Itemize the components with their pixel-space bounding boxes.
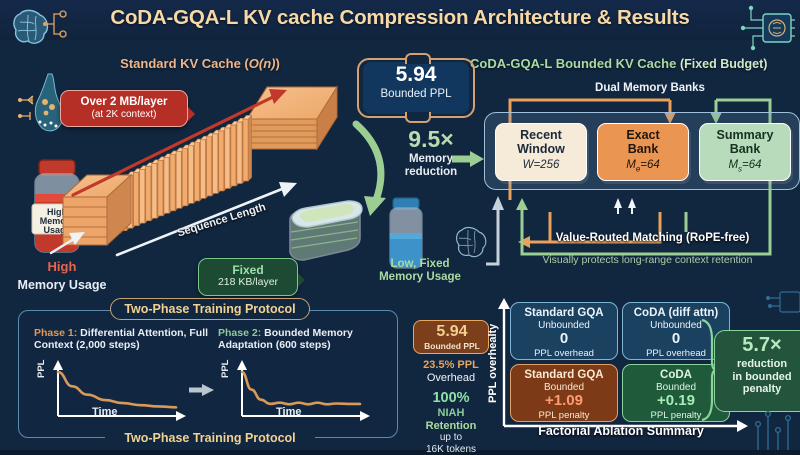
cartouche-label: Bounded PPL: [357, 88, 475, 100]
bounded-ppl-cartouche: 5.94 Bounded PPL: [357, 58, 475, 118]
penalty-reduction-text: reduction in bounded penalty: [715, 358, 800, 396]
bounded-ppl-badge: 5.94 Bounded PPL: [413, 320, 489, 354]
memory-usage-words: Memory Usage: [18, 278, 107, 292]
bank-summary-line2: Bank: [730, 142, 761, 156]
standard-cache-title: Standard KV Cache (O(n)): [60, 56, 340, 71]
ppl-overhead-label: Overhead: [427, 372, 475, 384]
phase2-ylabel: PPL: [220, 360, 231, 378]
fixed-line2: 218 KB/layer: [207, 277, 289, 289]
phase2-heading: Phase 2: Bounded Memory Adaptation (600 …: [218, 327, 393, 352]
quadrant-standard-gqa-unbounded[interactable]: Standard GQA Unbounded 0 PPL overhead: [510, 302, 618, 360]
brain-outline-icon: [452, 222, 492, 262]
bank-recent-line1: Recent: [520, 128, 562, 142]
long-range-retention-note: Visually protects long-range context ret…: [495, 254, 800, 266]
phase1-tag: Phase 1:: [34, 327, 77, 339]
bank-exact-line2: Bank: [628, 142, 659, 156]
results-stats-column: 5.94 Bounded PPL 23.5% PPL Overhead 100%…: [412, 320, 490, 455]
standard-cache-title-text: Standard KV Cache (: [120, 56, 249, 71]
dual-memory-banks-label: Dual Memory Banks: [540, 82, 760, 94]
high-memory-caption: High Memory Usage: [10, 258, 114, 294]
bounded-cache-subtitle: (Fixed Budget): [680, 57, 768, 71]
phase2-ppl-chart: PPL Time: [220, 360, 370, 422]
circuit-decoration-icon: [752, 398, 800, 450]
bank-recent-param: W=256: [496, 159, 586, 171]
circuit-decoration-right-icon: [768, 282, 800, 322]
phase1-xlabel: Time: [92, 406, 117, 418]
value-routed-matching-label: Value-Routed Matching (RoPE-free): [505, 232, 800, 244]
bounded-ppl-caption: Bounded PPL: [414, 341, 490, 351]
training-protocol-caption: Two-Phase Training Protocol: [105, 428, 315, 448]
cartouche-value: 5.94: [357, 63, 475, 87]
over-2mb-callout: Over 2 MB/layer (at 2K context): [60, 90, 188, 127]
infographic-canvas: CoDA-GQA-L KV cache Compression Architec…: [0, 0, 800, 450]
phase2-tag: Phase 2:: [218, 327, 261, 339]
q-tl-value: 0: [511, 331, 617, 348]
bank-summary-param: Ms=64: [700, 159, 790, 173]
q-tl-title: Standard GQA: [511, 307, 617, 320]
q-tl-unit: PPL overhead: [511, 348, 617, 359]
bank-recent-window[interactable]: Recent Window W=256: [495, 123, 587, 181]
niah-tokens: 16K tokens: [412, 444, 490, 455]
ppl-overhead-value: 23.5% PPL: [423, 359, 479, 371]
q-bl-value: +1.09: [511, 393, 617, 410]
bounded-cache-title: CoDA-GQA-L Bounded KV Cache (Fixed Budge…: [470, 56, 800, 71]
training-protocol-title-chip: Two-Phase Training Protocol: [110, 298, 310, 320]
phase1-heading: Phase 1: Differential Attention, Full Co…: [34, 327, 214, 352]
quadrant-standard-gqa-bounded[interactable]: Standard GQA Bounded +1.09 PPL penalty: [510, 364, 618, 422]
phase1-ylabel: PPL: [36, 360, 47, 378]
bank-summary[interactable]: Summary Bank Ms=64: [699, 123, 791, 181]
q-bl-title: Standard GQA: [511, 369, 617, 382]
niah-retention-word: Retention: [412, 420, 490, 433]
niah-name: NIAH: [412, 407, 490, 420]
phase2-xlabel: Time: [276, 406, 301, 418]
ppl-overhead-stat: 23.5% PPL Overhead: [412, 359, 490, 384]
memory-banks-panel: Recent Window W=256 Exact Bank Me=64 Sum…: [484, 112, 800, 190]
phase1-ppl-chart: PPL Time: [36, 360, 186, 422]
q-bl-unit: PPL penalty: [511, 410, 617, 421]
standard-cache-title-end: ): [275, 56, 279, 71]
niah-retention-stat: 100% NIAH Retention up to 16K tokens: [412, 390, 490, 455]
fixed-line1: Fixed: [207, 264, 289, 277]
bank-exact[interactable]: Exact Bank Me=64: [597, 123, 689, 181]
niah-percent: 100%: [412, 390, 490, 407]
phase-transition-arrow-icon: [188, 382, 216, 398]
bank-summary-line1: Summary: [717, 128, 774, 142]
bounded-ppl-value: 5.94: [414, 323, 490, 341]
over-2mb-line2: (at 2K context): [69, 109, 179, 120]
over-2mb-line1: Over 2 MB/layer: [69, 96, 179, 109]
bounded-cache-title-text: CoDA-GQA-L Bounded KV Cache: [470, 56, 676, 71]
bank-exact-line1: Exact: [626, 128, 659, 142]
niah-upto: up to: [412, 432, 490, 444]
penalty-reduction-value: 5.7×: [715, 335, 800, 355]
ablation-caption: Factorial Ablation Summary: [496, 424, 746, 438]
bank-exact-param: Me=64: [598, 159, 688, 173]
bank-recent-line2: Window: [517, 142, 565, 156]
arrow-right-green-icon: [450, 148, 486, 170]
high-memory-word: High: [48, 259, 77, 274]
page-title: CoDA-GQA-L KV cache Compression Architec…: [0, 6, 800, 30]
standard-cache-title-math: O(n): [249, 56, 276, 71]
